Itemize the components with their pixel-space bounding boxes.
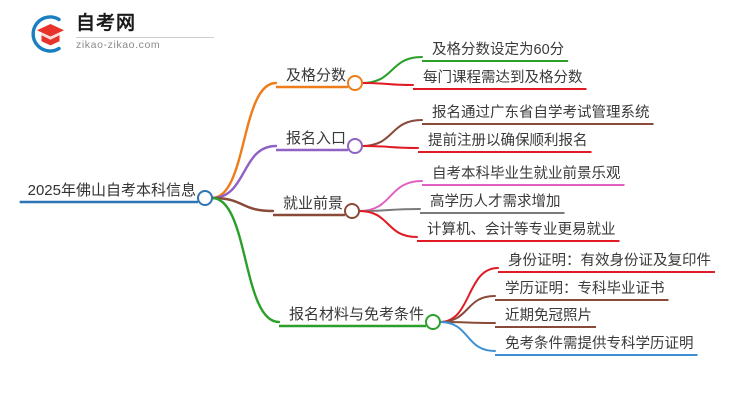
branch-node-circle-3[interactable] [426, 315, 440, 329]
leaf-node-label-3-3[interactable]: 免考条件需提供专科学历证明 [505, 337, 694, 352]
root-node-circle[interactable] [198, 191, 212, 205]
leaf-node-label-2-0[interactable]: 自考本科毕业生就业前景乐观 [432, 167, 621, 182]
branch-node-circle-2[interactable] [345, 204, 359, 218]
leaf-node-label-3-0[interactable]: 身份证明：有效身份证及复印件 [508, 254, 711, 269]
leaf-node-label-0-1[interactable]: 每门课程需达到及格分数 [423, 71, 583, 86]
leaf-node-label-2-1[interactable]: 高学历人才需求增加 [430, 195, 561, 210]
branch-node-circle-1[interactable] [348, 139, 362, 153]
root-node-label[interactable]: 2025年佛山自考本科信息 [28, 183, 196, 198]
branch-node-label-2[interactable]: 就业前景 [283, 196, 343, 211]
leaf-node-label-2-2[interactable]: 计算机、会计等专业更易就业 [427, 223, 616, 238]
branch-node-label-1[interactable]: 报名入口 [286, 131, 346, 146]
leaf-node-label-1-0[interactable]: 报名通过广东省自学考试管理系统 [432, 106, 650, 121]
branch-node-label-0[interactable]: 及格分数 [286, 68, 346, 83]
branch-node-label-3[interactable]: 报名材料与免考条件 [289, 307, 424, 322]
leaf-node-label-3-1[interactable]: 学历证明：专科毕业证书 [505, 282, 665, 297]
leaf-node-label-1-1[interactable]: 提前注册以确保顺利报名 [428, 134, 588, 149]
leaf-node-label-0-0[interactable]: 及格分数设定为60分 [432, 43, 564, 58]
branch-node-circle-0[interactable] [348, 76, 362, 90]
leaf-node-label-3-2[interactable]: 近期免冠照片 [505, 309, 592, 324]
